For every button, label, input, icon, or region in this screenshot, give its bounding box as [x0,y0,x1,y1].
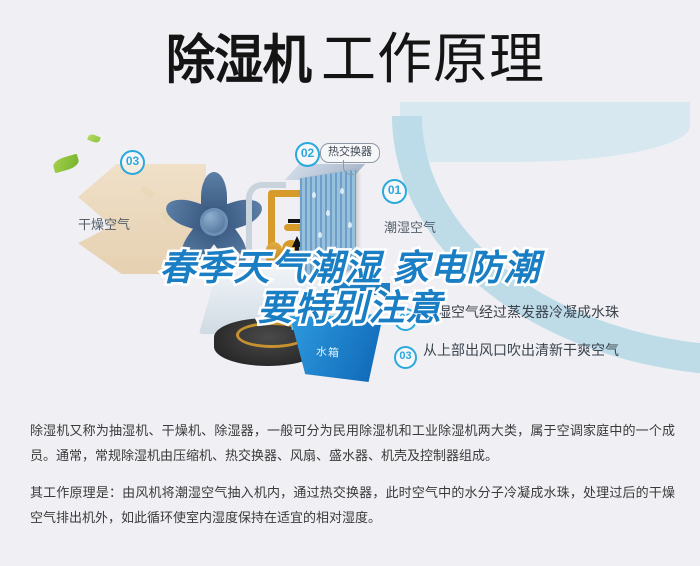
caption-humid-air: 潮湿空气 [384,217,436,236]
badge-step-03: 03 [120,150,145,175]
overlay-headline-line2: 要特别注意 [0,288,700,328]
step-caption-03-text: 从上部出风口吹出清新干爽空气 [423,342,619,358]
caption-dry-air: 干燥空气 [78,214,130,233]
badge-caption-03: 03 [394,346,417,369]
humid-air-arrow [392,116,700,376]
page-title-part2: 工作原理 [321,32,545,87]
article-body: 除湿机又称为抽湿机、干燥机、除湿器，一般可分为民用除湿机和工业除湿机两大类，属于… [30,418,675,542]
badge-step-02: 02 [295,142,320,167]
body-paragraph-1: 除湿机又称为抽湿机、干燥机、除湿器，一般可分为民用除湿机和工业除湿机两大类，属于… [30,418,675,468]
leaf-icon [52,154,81,174]
leaf-icon [87,133,101,144]
overlay-headline: 春季天气潮湿 家电防潮 要特别注意 [0,248,700,328]
badge-step-01: 01 [382,179,407,204]
overlay-headline-line1: 春季天气潮湿 家电防潮 [0,248,700,288]
infographic-page: 除湿机工作原理 [0,0,700,566]
body-paragraph-2: 其工作原理是：由风机将潮湿空气抽入机内，通过热交换器，此时空气中的水分子冷凝成水… [30,480,675,530]
page-title-part1: 除湿机 [166,34,311,87]
heat-exchanger-callout: 热交换器 [320,143,380,163]
step-caption-03: 03从上部出风口吹出清新干爽空气 [394,340,619,365]
water-tank-label: 水箱 [315,343,340,361]
page-title: 除湿机工作原理 [0,32,700,87]
